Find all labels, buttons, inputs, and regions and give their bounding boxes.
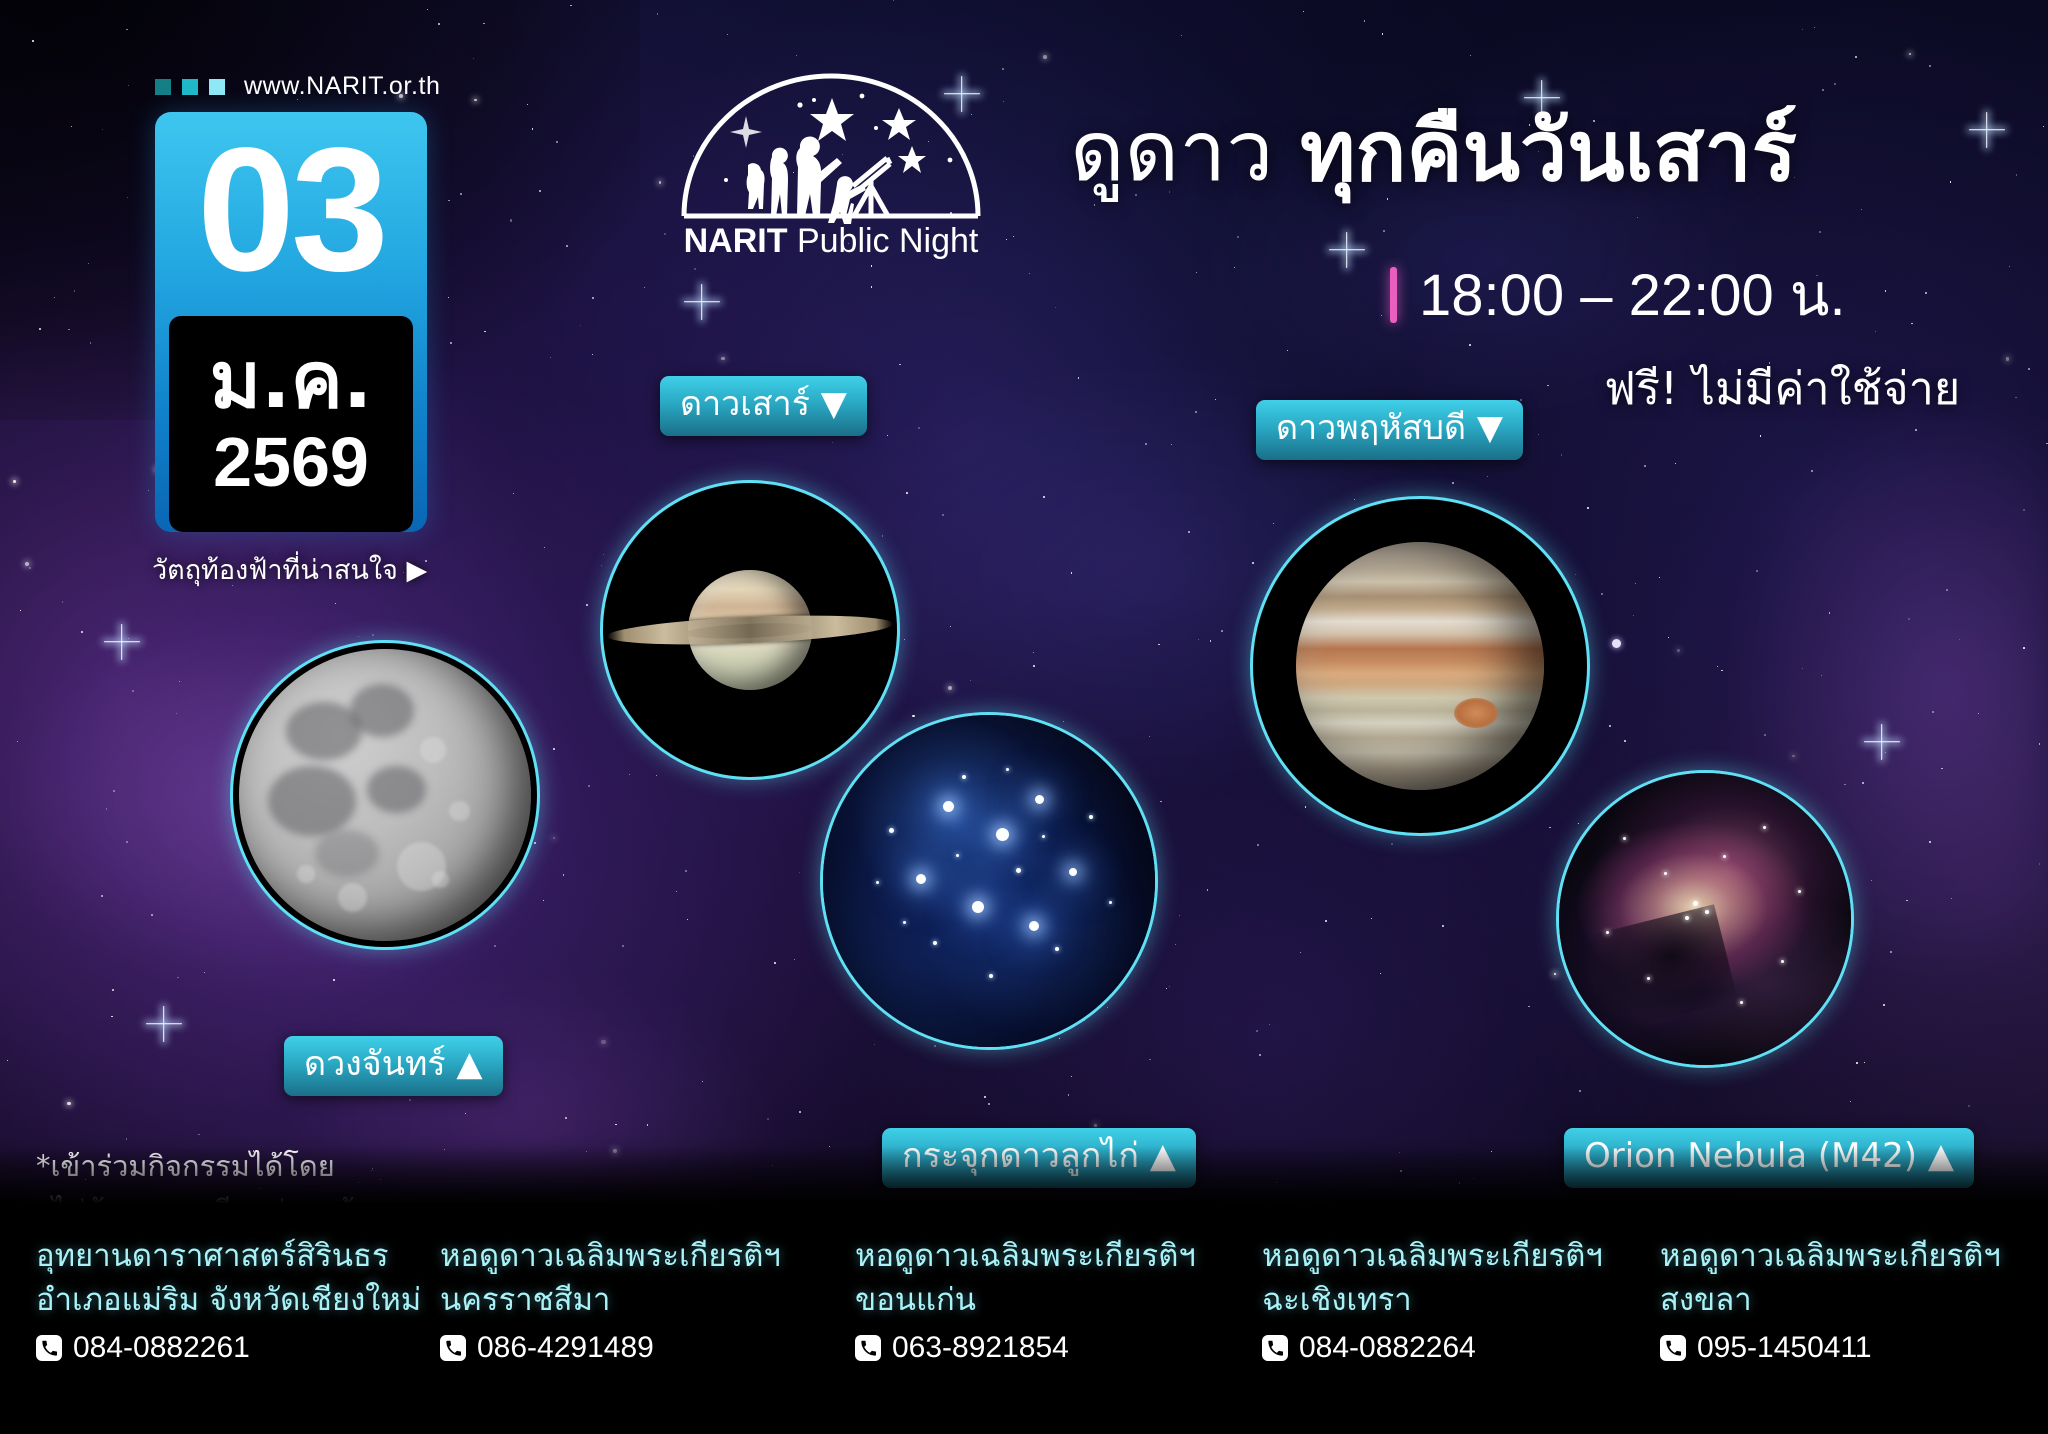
jupiter-image xyxy=(1250,496,1590,836)
footer-site-phone[interactable]: 086-4291489 xyxy=(440,1331,840,1365)
star-dot-icon xyxy=(1166,988,1167,989)
free-admission-note: ฟรี! ไม่มีค่าใช้จ่าย xyxy=(1604,352,1960,424)
star-cluster-icon xyxy=(823,715,1155,1047)
footer-phone-number: 095-1450411 xyxy=(1697,1331,1872,1365)
star-dot-icon xyxy=(1821,675,1822,676)
star-dot-icon xyxy=(1078,377,1080,379)
star-dot-icon xyxy=(176,713,177,714)
star-dot-icon xyxy=(1196,272,1197,273)
star-dot-icon xyxy=(102,129,103,130)
star-dot-icon xyxy=(1538,434,1539,435)
star-dot-icon xyxy=(565,1117,567,1119)
star-dot-icon xyxy=(1929,65,1931,67)
star-dot-icon xyxy=(767,1118,769,1120)
star-dot-icon xyxy=(887,435,888,436)
star-dot-icon xyxy=(510,219,512,221)
twinkle-star-icon xyxy=(700,300,703,303)
footer-site-name: หอดูดาวเฉลิมพระเกียรติฯสงขลา xyxy=(1660,1234,2048,1322)
star-dot-icon xyxy=(603,554,604,555)
star-dot-icon xyxy=(2009,266,2010,267)
date-card: 03 ม.ค. 2569 xyxy=(155,112,427,532)
narit-logo: NARIT Public Night xyxy=(666,64,996,264)
star-dot-icon xyxy=(1547,385,1548,386)
star-dot-icon xyxy=(657,13,658,14)
star-dot-icon xyxy=(1094,1124,1097,1127)
star-dot-icon xyxy=(32,40,34,42)
star-dot-icon xyxy=(1862,782,1864,784)
star-dot-icon xyxy=(112,989,114,991)
narit-tagline: Public Night xyxy=(797,222,978,260)
star-dot-icon xyxy=(1259,1054,1261,1056)
pleiades-image xyxy=(820,712,1158,1050)
star-dot-icon xyxy=(177,977,178,978)
logo-square-3-icon xyxy=(209,79,225,95)
star-dot-icon xyxy=(1256,1030,1258,1032)
star-dot-icon xyxy=(644,287,645,288)
star-dot-icon xyxy=(592,354,593,355)
twinkle-star-icon xyxy=(1985,128,1988,131)
star-dot-icon xyxy=(1609,725,1610,726)
star-dot-icon xyxy=(544,547,545,548)
star-dot-icon xyxy=(1033,665,1035,667)
star-dot-icon xyxy=(1029,273,1030,274)
date-month: ม.ค. xyxy=(210,342,373,420)
star-dot-icon xyxy=(899,364,901,366)
star-dot-icon xyxy=(799,1111,801,1113)
star-dot-icon xyxy=(1234,267,1235,268)
star-dot-icon xyxy=(527,104,528,105)
star-dot-icon xyxy=(1452,482,1454,484)
star-dot-icon xyxy=(88,263,89,264)
star-dot-icon xyxy=(1273,523,1274,524)
star-dot-icon xyxy=(906,492,908,494)
footer-site-5: หอดูดาวเฉลิมพระเกียรติฯสงขลา095-1450411 xyxy=(1660,1234,2048,1365)
star-dot-icon xyxy=(588,785,590,787)
star-dot-icon xyxy=(1487,476,1488,477)
footer-site-name: หอดูดาวเฉลิมพระเกียรติฯขอนแก่น xyxy=(855,1234,1255,1322)
star-dot-icon xyxy=(676,891,677,892)
star-dot-icon xyxy=(1941,768,1942,769)
star-dot-icon xyxy=(1043,496,1045,498)
star-dot-icon xyxy=(1160,801,1162,803)
star-dot-icon xyxy=(1215,399,1216,400)
star-dot-icon xyxy=(1179,915,1180,916)
star-dot-icon xyxy=(622,945,624,947)
star-dot-icon xyxy=(1380,973,1381,974)
star-dot-icon xyxy=(1237,236,1238,237)
star-dot-icon xyxy=(438,23,440,25)
star-dot-icon xyxy=(81,631,83,633)
star-dot-icon xyxy=(333,979,335,981)
star-dot-icon xyxy=(553,837,555,839)
star-dot-icon xyxy=(1006,239,1007,240)
star-dot-icon xyxy=(71,126,72,127)
star-dot-icon xyxy=(335,603,336,604)
footer-site-name: หอดูดาวเฉลิมพระเกียรติฯนครราชสีมา xyxy=(440,1234,840,1322)
star-dot-icon xyxy=(450,342,452,344)
star-dot-icon xyxy=(570,5,572,7)
headline-prefix: ดูดาว xyxy=(1070,102,1300,200)
star-dot-icon xyxy=(473,58,474,59)
star-dot-icon xyxy=(2023,647,2025,649)
star-dot-icon xyxy=(1911,323,1913,325)
star-dot-icon xyxy=(1043,55,1047,59)
star-dot-icon xyxy=(1221,630,1223,632)
star-dot-icon xyxy=(1925,292,1927,294)
star-dot-icon xyxy=(1871,880,1872,881)
star-dot-icon xyxy=(39,328,41,330)
star-dot-icon xyxy=(1269,1024,1270,1025)
website-url[interactable]: www.NARIT.or.th xyxy=(155,72,441,101)
star-dot-icon xyxy=(918,427,920,429)
star-dot-icon xyxy=(1195,411,1197,413)
star-dot-icon xyxy=(1624,740,1626,742)
twinkle-star-icon xyxy=(1345,248,1348,251)
star-dot-icon xyxy=(460,193,462,195)
twinkle-star-icon xyxy=(1880,740,1883,743)
star-dot-icon xyxy=(204,972,205,973)
label-jupiter[interactable]: ดาวพฤหัสบดี ▼ xyxy=(1256,400,1523,460)
narit-logo-text: NARIT Public Night xyxy=(666,222,996,261)
footer-phone-number: 084-0882261 xyxy=(73,1331,250,1365)
footer-site-name-line1: หอดูดาวเฉลิมพระเกียรติฯ xyxy=(1660,1234,2048,1278)
star-dot-icon xyxy=(942,514,944,516)
star-dot-icon xyxy=(29,567,31,569)
star-dot-icon xyxy=(1364,20,1365,21)
star-dot-icon xyxy=(1469,344,1471,346)
footer-site-phone[interactable]: 063-8921854 xyxy=(855,1331,1255,1365)
star-dot-icon xyxy=(1587,507,1589,509)
star-dot-icon xyxy=(465,1113,466,1114)
star-dot-icon xyxy=(601,1040,605,1044)
star-dot-icon xyxy=(948,686,952,690)
jupiter-icon xyxy=(1296,542,1544,790)
star-dot-icon xyxy=(1188,531,1190,533)
star-dot-icon xyxy=(721,357,725,361)
star-dot-icon xyxy=(1071,1076,1072,1077)
star-dot-icon xyxy=(54,297,55,298)
star-dot-icon xyxy=(484,331,485,332)
star-dot-icon xyxy=(1915,429,1917,431)
star-dot-icon xyxy=(128,638,129,639)
star-dot-icon xyxy=(1033,652,1034,653)
star-dot-icon xyxy=(1300,952,1302,954)
star-dot-icon xyxy=(1668,637,1669,638)
star-dot-icon xyxy=(74,290,76,292)
page-title: ดูดาว ทุกคืนวันเสาร์ xyxy=(1070,104,1797,198)
star-dot-icon xyxy=(25,562,29,566)
star-dot-icon xyxy=(629,774,630,775)
star-dot-icon xyxy=(871,265,872,266)
star-dot-icon xyxy=(1908,618,1910,620)
star-dot-icon xyxy=(1303,11,1304,12)
footer-site-phone[interactable]: 095-1450411 xyxy=(1660,1331,2048,1365)
star-dot-icon xyxy=(494,945,495,946)
star-dot-icon xyxy=(2015,397,2017,399)
objects-cue: วัตถุท้องฟ้าที่น่าสนใจ ▶ xyxy=(152,548,427,591)
star-dot-icon xyxy=(126,29,127,30)
star-dot-icon xyxy=(1978,713,1979,714)
great-red-spot-icon xyxy=(1454,698,1498,728)
star-dot-icon xyxy=(2039,743,2041,745)
star-dot-icon xyxy=(126,1138,127,1139)
footer-site-name: หอดูดาวเฉลิมพระเกียรติฯฉะเชิงเทรา xyxy=(1262,1234,1662,1322)
star-dot-icon xyxy=(1383,230,1385,232)
star-dot-icon xyxy=(904,639,905,640)
star-dot-icon xyxy=(550,357,551,358)
star-dot-icon xyxy=(1181,35,1182,36)
star-dot-icon xyxy=(566,245,568,247)
footer-site-name-line1: หอดูดาวเฉลิมพระเกียรติฯ xyxy=(855,1234,1255,1278)
star-dot-icon xyxy=(586,604,588,606)
poster-canvas: www.NARIT.or.th 03 ม.ค. 2569 วัตถุท้องฟ้… xyxy=(0,0,2048,1434)
star-dot-icon xyxy=(151,914,153,916)
footer-site-name-line1: หอดูดาวเฉลิมพระเกียรติฯ xyxy=(440,1234,840,1278)
star-dot-icon xyxy=(113,790,115,792)
star-dot-icon xyxy=(1252,562,1254,564)
star-dot-icon xyxy=(1644,465,1646,467)
moon-icon xyxy=(239,649,531,941)
star-dot-icon xyxy=(1959,639,1960,640)
star-dot-icon xyxy=(727,34,728,35)
star-dot-icon xyxy=(553,748,555,750)
label-saturn[interactable]: ดาวเสาร์ ▼ xyxy=(660,376,867,436)
footer-site-name-line2: นครราชสีมา xyxy=(440,1278,840,1322)
observatory-dome-icon xyxy=(666,64,996,234)
star-dot-icon xyxy=(871,286,872,287)
star-dot-icon xyxy=(893,0,894,1)
star-dot-icon xyxy=(1287,350,1288,351)
star-dot-icon xyxy=(1013,236,1014,237)
star-dot-icon xyxy=(2023,509,2024,510)
star-dot-icon xyxy=(647,1124,648,1125)
star-dot-icon xyxy=(1633,615,1634,616)
footer-phone-number: 063-8921854 xyxy=(892,1331,1069,1365)
star-dot-icon xyxy=(1906,900,1908,902)
star-dot-icon xyxy=(2039,863,2041,865)
star-dot-icon xyxy=(1158,644,1160,646)
star-dot-icon xyxy=(1760,435,1762,437)
star-dot-icon xyxy=(1175,944,1176,945)
star-dot-icon xyxy=(1864,1062,1865,1063)
star-dot-icon xyxy=(1909,53,1911,55)
date-year: 2569 xyxy=(213,426,369,500)
star-dot-icon xyxy=(702,1081,703,1082)
footer-site-name-line1: หอดูดาวเฉลิมพระเกียรติฯ xyxy=(1262,1234,1662,1278)
star-dot-icon xyxy=(1677,649,1680,652)
star-dot-icon xyxy=(1354,499,1355,500)
star-dot-icon xyxy=(448,297,449,298)
jupiter-moon-dot-icon xyxy=(1612,639,1621,648)
star-dot-icon xyxy=(832,442,833,443)
star-dot-icon xyxy=(1601,593,1603,595)
star-dot-icon xyxy=(563,874,565,876)
star-dot-icon xyxy=(483,23,485,25)
nebula-icon xyxy=(1559,773,1851,1065)
star-dot-icon xyxy=(1382,33,1384,35)
star-dot-icon xyxy=(1856,1062,1858,1064)
star-dot-icon xyxy=(1855,56,1857,58)
twinkle-star-icon xyxy=(120,640,123,643)
star-dot-icon xyxy=(539,190,541,192)
star-dot-icon xyxy=(687,919,688,920)
star-dot-icon xyxy=(1071,572,1073,574)
star-dot-icon xyxy=(615,1124,617,1126)
star-dot-icon xyxy=(532,128,534,130)
star-dot-icon xyxy=(126,841,128,843)
star-dot-icon xyxy=(580,325,581,326)
star-dot-icon xyxy=(1637,217,1638,218)
star-dot-icon xyxy=(534,842,536,844)
star-dot-icon xyxy=(556,141,558,143)
phone-icon xyxy=(36,1335,62,1361)
star-dot-icon xyxy=(2028,368,2030,370)
star-dot-icon xyxy=(1198,639,1199,640)
star-dot-icon xyxy=(128,85,129,86)
star-dot-icon xyxy=(1875,331,1876,332)
star-dot-icon xyxy=(1381,315,1382,316)
star-dot-icon xyxy=(950,626,951,627)
time-accent-bar-icon xyxy=(1390,267,1397,323)
phone-icon xyxy=(855,1335,881,1361)
phone-icon xyxy=(1262,1335,1288,1361)
footer-site-1: อุทยานดาราศาสตร์สิรินธรอำเภอแม่ริม จังหว… xyxy=(36,1234,436,1365)
event-time: 18:00 – 22:00 น. xyxy=(1390,248,1846,341)
star-dot-icon xyxy=(1549,827,1550,828)
star-dot-icon xyxy=(592,297,594,299)
footer-site-name-line2: ฉะเชิงเทรา xyxy=(1262,1278,1662,1322)
moon-image xyxy=(230,640,540,950)
footer-site-name-line2: อำเภอแม่ริม จังหวัดเชียงใหม่ xyxy=(36,1278,436,1322)
star-dot-icon xyxy=(882,535,883,536)
star-dot-icon xyxy=(1002,68,1004,70)
footer-phone-number: 084-0882264 xyxy=(1299,1331,1476,1365)
footer-site-name: อุทยานดาราศาสตร์สิรินธรอำเภอแม่ริม จังหว… xyxy=(36,1234,436,1322)
star-dot-icon xyxy=(1528,1006,1529,1007)
star-dot-icon xyxy=(7,1060,8,1061)
star-dot-icon xyxy=(1325,920,1327,922)
star-dot-icon xyxy=(1055,307,1056,308)
star-dot-icon xyxy=(127,197,128,198)
star-dot-icon xyxy=(1520,399,1522,401)
star-dot-icon xyxy=(148,490,149,491)
star-dot-icon xyxy=(988,1103,990,1105)
star-dot-icon xyxy=(1834,83,1836,85)
footer-site-name-line1: อุทยานดาราศาสตร์สิรินธร xyxy=(36,1234,436,1278)
star-dot-icon xyxy=(1257,844,1259,846)
star-dot-icon xyxy=(358,636,360,638)
star-dot-icon xyxy=(1149,1059,1150,1060)
star-dot-icon xyxy=(1169,986,1170,987)
star-dot-icon xyxy=(1371,918,1373,920)
star-dot-icon xyxy=(794,959,795,960)
star-dot-icon xyxy=(1717,666,1718,667)
star-dot-icon xyxy=(1819,231,1821,233)
star-dot-icon xyxy=(1861,209,1862,210)
star-dot-icon xyxy=(543,900,544,901)
footer-phone-number: 086-4291489 xyxy=(477,1331,654,1365)
star-dot-icon xyxy=(1951,898,1952,899)
star-dot-icon xyxy=(1802,668,1803,669)
footer-site-2: หอดูดาวเฉลิมพระเกียรติฯนครราชสีมา086-429… xyxy=(440,1234,840,1365)
star-dot-icon xyxy=(62,601,63,602)
star-dot-icon xyxy=(1675,463,1676,464)
star-dot-icon xyxy=(106,808,107,809)
star-dot-icon xyxy=(198,1134,200,1136)
star-dot-icon xyxy=(1802,29,1803,30)
star-dot-icon xyxy=(1554,973,1556,975)
star-dot-icon xyxy=(1145,443,1147,445)
star-dot-icon xyxy=(101,895,103,897)
star-dot-icon xyxy=(1068,1094,1070,1096)
star-dot-icon xyxy=(1210,640,1212,642)
narit-brand: NARIT xyxy=(684,222,788,260)
star-dot-icon xyxy=(1659,577,1660,578)
star-dot-icon xyxy=(1890,951,1892,953)
footer-site-phone[interactable]: 084-0882261 xyxy=(36,1331,436,1365)
star-dot-icon xyxy=(1792,755,1794,757)
star-dot-icon xyxy=(1305,806,1306,807)
footer-site-4: หอดูดาวเฉลิมพระเกียรติฯฉะเชิงเทรา084-088… xyxy=(1262,1234,1662,1365)
star-dot-icon xyxy=(694,268,696,270)
star-dot-icon xyxy=(13,480,16,483)
star-dot-icon xyxy=(2043,126,2044,127)
footer-site-3: หอดูดาวเฉลิมพระเกียรติฯขอนแก่น063-892185… xyxy=(855,1234,1255,1365)
phone-icon xyxy=(1660,1335,1686,1361)
star-dot-icon xyxy=(774,962,776,964)
star-dot-icon xyxy=(1883,1004,1885,1006)
star-dot-icon xyxy=(68,329,69,330)
star-dot-icon xyxy=(1721,670,1723,672)
star-dot-icon xyxy=(17,741,18,742)
star-dot-icon xyxy=(1764,734,1766,736)
date-day: 03 xyxy=(155,112,427,320)
star-dot-icon xyxy=(685,870,687,872)
star-dot-icon xyxy=(448,200,449,201)
star-dot-icon xyxy=(409,1099,411,1101)
label-moon[interactable]: ดวงจันทร์ ▲ xyxy=(284,1036,503,1096)
star-dot-icon xyxy=(1850,1101,1851,1102)
twinkle-star-icon xyxy=(162,1022,165,1025)
star-dot-icon xyxy=(1814,27,1815,28)
star-dot-icon xyxy=(1442,925,1444,927)
star-dot-icon xyxy=(2016,174,2017,175)
star-dot-icon xyxy=(799,872,800,873)
star-dot-icon xyxy=(1561,454,1562,455)
star-dot-icon xyxy=(984,1096,986,1098)
star-dot-icon xyxy=(2006,357,2010,361)
star-dot-icon xyxy=(1946,589,1948,591)
headline-main: ทุกคืนวันเสาร์ xyxy=(1300,102,1797,200)
footer-site-phone[interactable]: 084-0882264 xyxy=(1262,1331,1662,1365)
star-dot-icon xyxy=(1003,101,1004,102)
star-dot-icon xyxy=(20,610,21,611)
star-dot-icon xyxy=(1885,752,1887,754)
footer-site-name-line2: สงขลา xyxy=(1660,1278,2048,1322)
logo-square-2-icon xyxy=(182,79,198,95)
star-dot-icon xyxy=(513,493,514,494)
star-dot-icon xyxy=(474,99,477,102)
footer-contacts: อุทยานดาราศาสตร์สิรินธรอำเภอแม่ริม จังหว… xyxy=(0,1204,2048,1434)
star-dot-icon xyxy=(1950,181,1952,183)
star-dot-icon xyxy=(1932,711,1934,713)
star-dot-icon xyxy=(90,342,91,343)
star-dot-icon xyxy=(1470,55,1471,56)
star-dot-icon xyxy=(1207,889,1209,891)
star-dot-icon xyxy=(1811,470,1813,472)
event-time-text: 18:00 – 22:00 น. xyxy=(1419,248,1846,341)
star-dot-icon xyxy=(1094,204,1096,206)
